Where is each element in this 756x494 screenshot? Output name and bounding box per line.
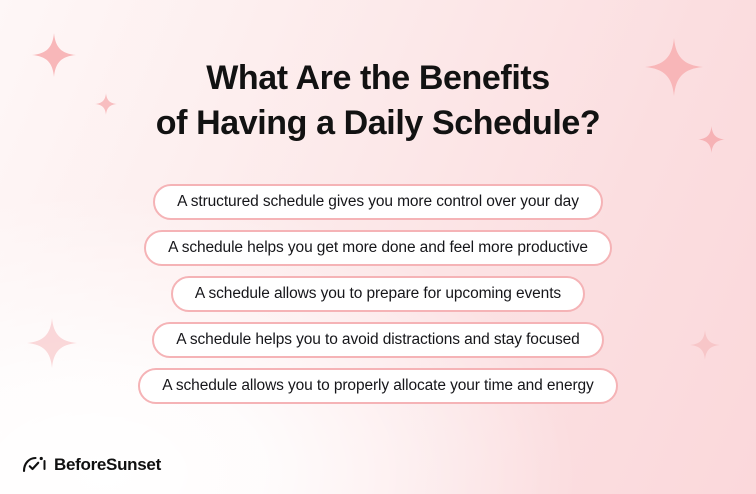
benefit-pill-label: A structured schedule gives you more con… bbox=[177, 194, 579, 210]
benefit-pill: A schedule helps you to avoid distractio… bbox=[152, 322, 603, 358]
benefit-pill-label: A schedule helps you to avoid distractio… bbox=[176, 332, 579, 348]
infographic-poster: What Are the Benefits of Having a Daily … bbox=[0, 0, 756, 494]
benefit-pill-label: A schedule allows you to properly alloca… bbox=[162, 378, 593, 394]
benefit-pill: A schedule allows you to properly alloca… bbox=[138, 368, 617, 404]
page-title-line-1: What Are the Benefits bbox=[40, 56, 716, 101]
benefit-pill: A schedule allows you to prepare for upc… bbox=[171, 276, 585, 312]
sunset-check-icon bbox=[22, 454, 48, 474]
benefit-pill-label: A schedule helps you get more done and f… bbox=[168, 240, 588, 256]
benefits-list: A structured schedule gives you more con… bbox=[0, 184, 756, 404]
brand-wordmark: BeforeSunset bbox=[54, 456, 161, 473]
benefit-pill: A structured schedule gives you more con… bbox=[153, 184, 603, 220]
benefit-pill-label: A schedule allows you to prepare for upc… bbox=[195, 286, 561, 302]
brand-logo: BeforeSunset bbox=[22, 454, 161, 474]
benefit-pill: A schedule helps you get more done and f… bbox=[144, 230, 612, 266]
page-title: What Are the Benefits of Having a Daily … bbox=[0, 56, 756, 146]
page-title-line-2: of Having a Daily Schedule? bbox=[40, 101, 716, 146]
